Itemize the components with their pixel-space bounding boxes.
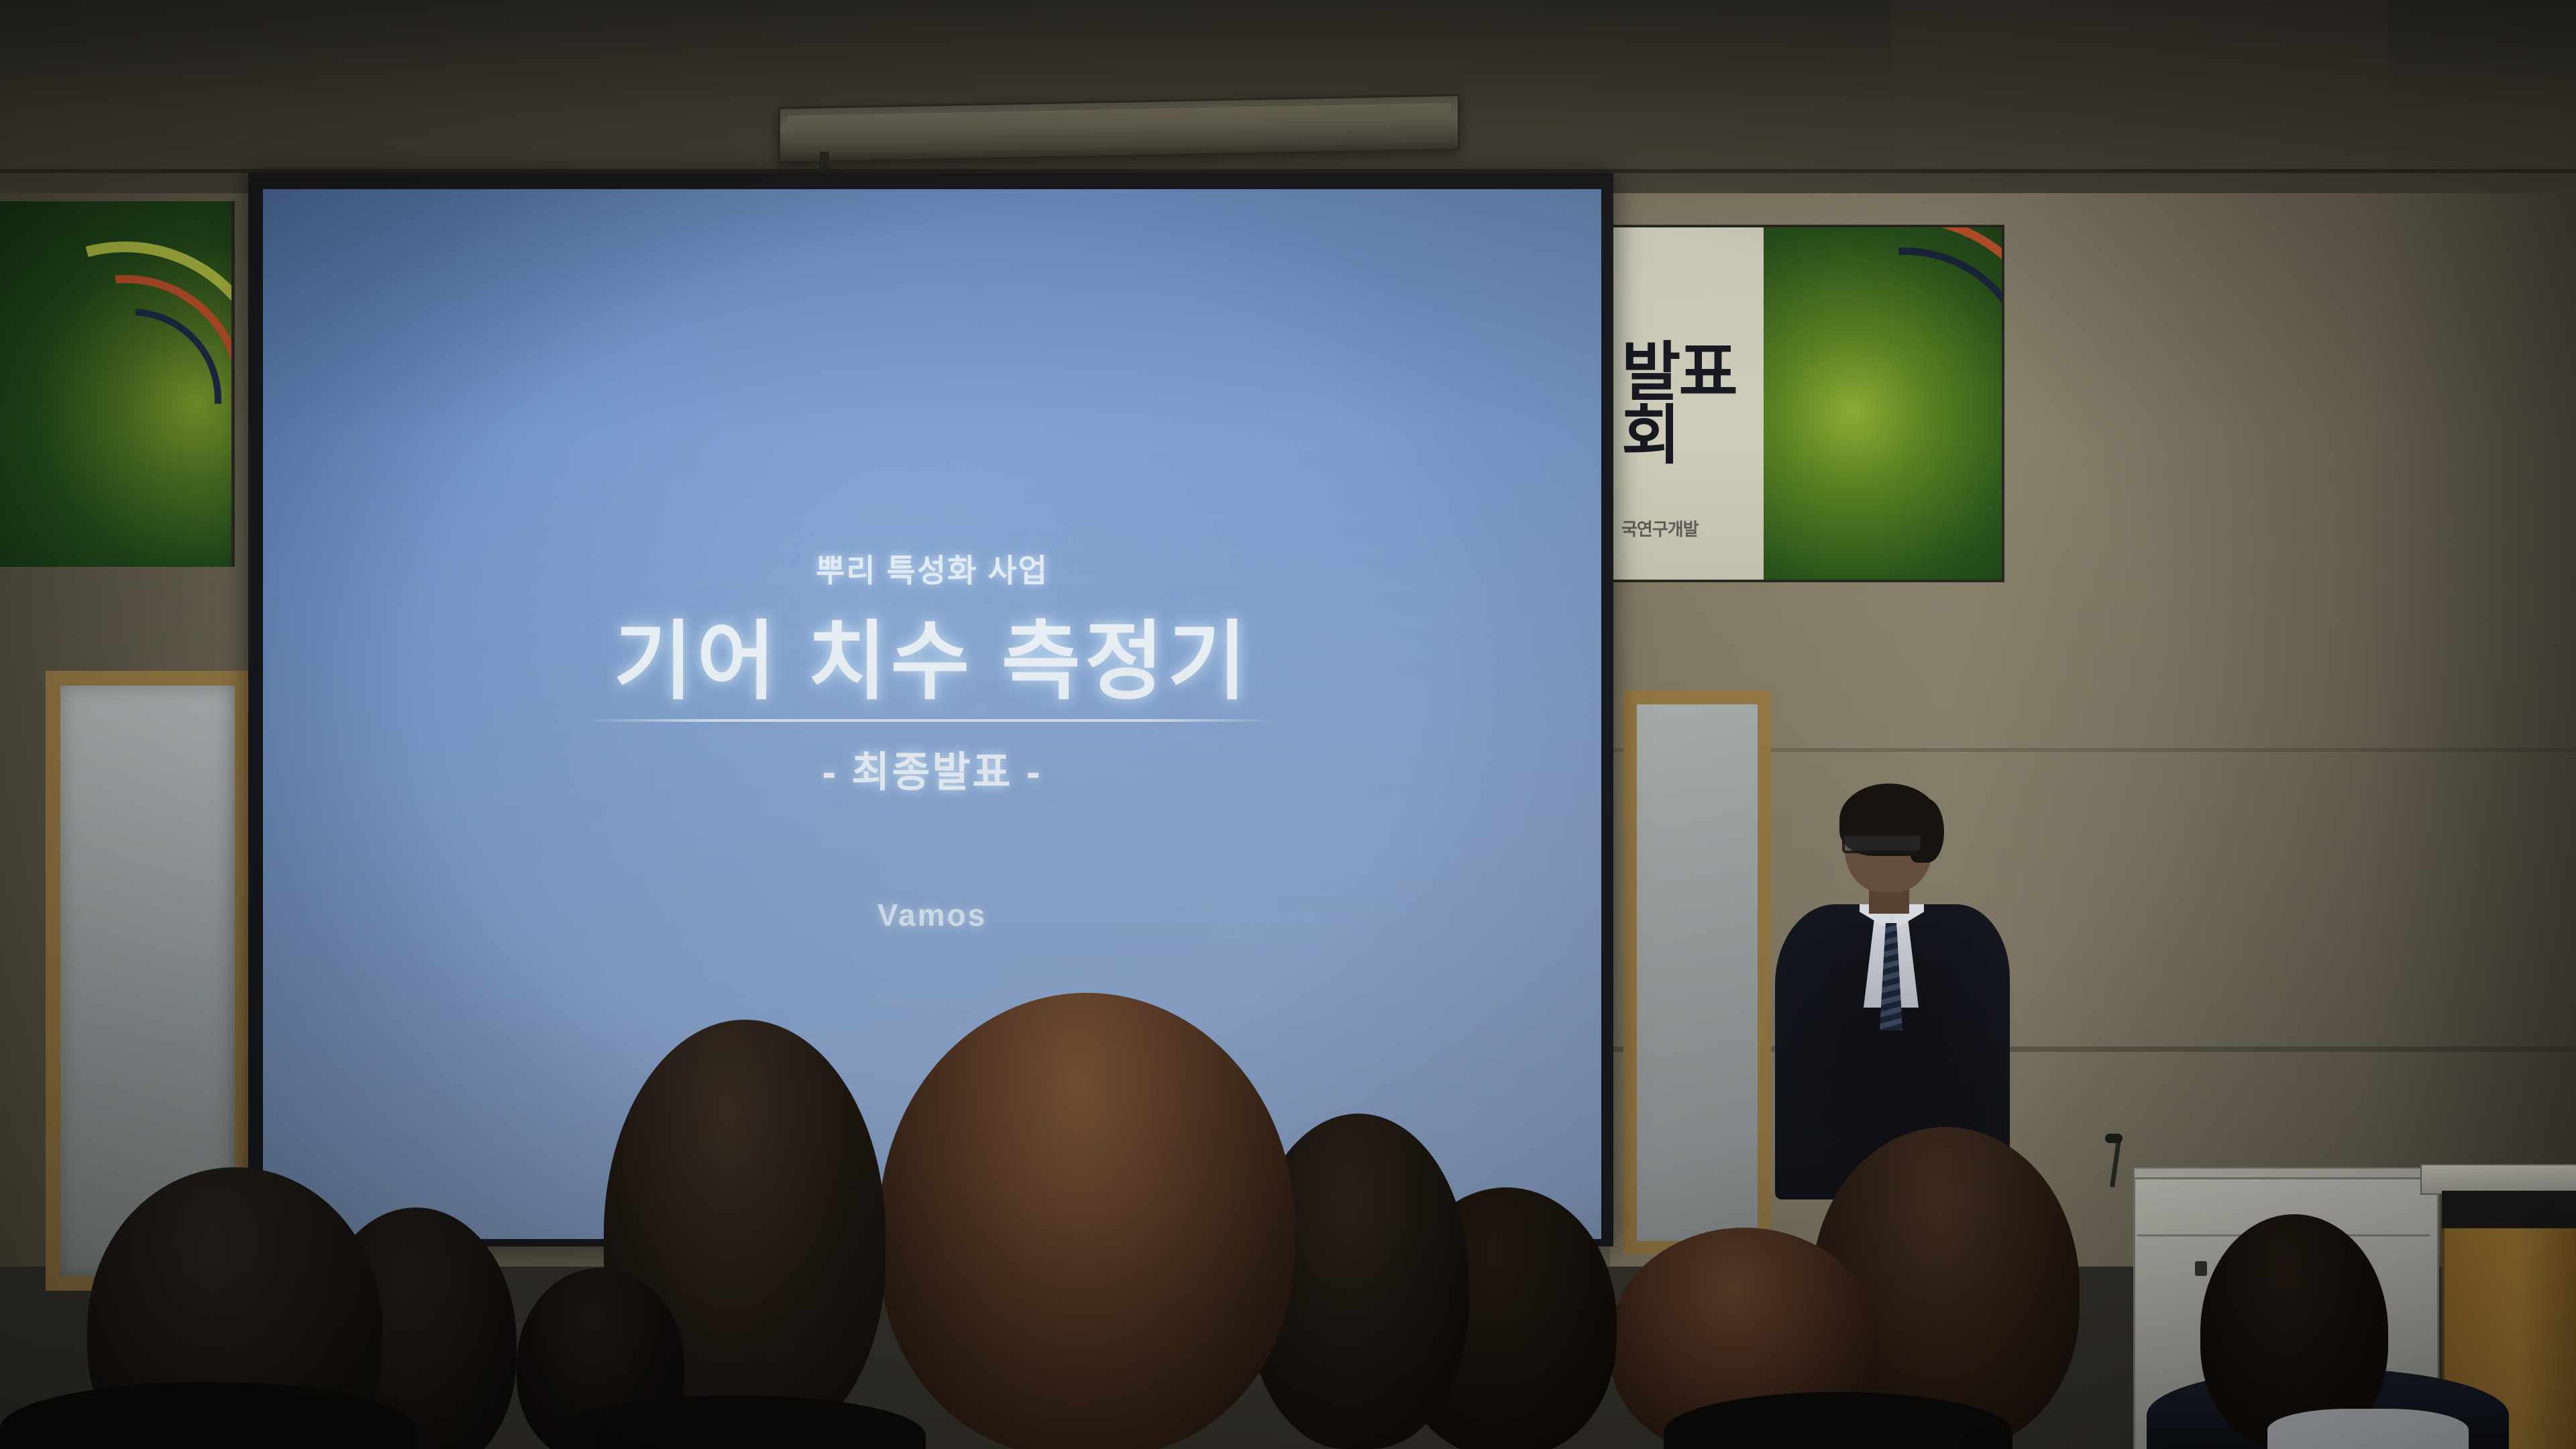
ceiling-light-diffuser xyxy=(787,103,1451,154)
glasses-icon xyxy=(1842,833,1923,853)
podium-band xyxy=(2442,1191,2576,1228)
banner-right-headline: 발표회 xyxy=(1621,341,1756,468)
audience-head xyxy=(879,993,1295,1449)
whiteboard-right xyxy=(1623,691,1771,1254)
banner-right-subline: 국연구개발 xyxy=(1621,516,1762,541)
audience-shirt xyxy=(2267,1409,2469,1449)
banner-left xyxy=(0,201,235,567)
ceiling-panel-right xyxy=(1892,0,2388,168)
banner-right-textplate: 발표회 국연구개발 xyxy=(1609,227,1764,580)
av-cabinet-knob xyxy=(2195,1261,2207,1276)
presentation-room-photo: 발표회 국연구개발 뿌리 특성화 사업 기어 치수 측정기 - 최종발표 - V… xyxy=(0,0,2576,1449)
microphone-icon xyxy=(2105,1134,2123,1143)
presenter xyxy=(1751,792,2033,1194)
banner-right: 발표회 국연구개발 xyxy=(1607,225,2004,582)
